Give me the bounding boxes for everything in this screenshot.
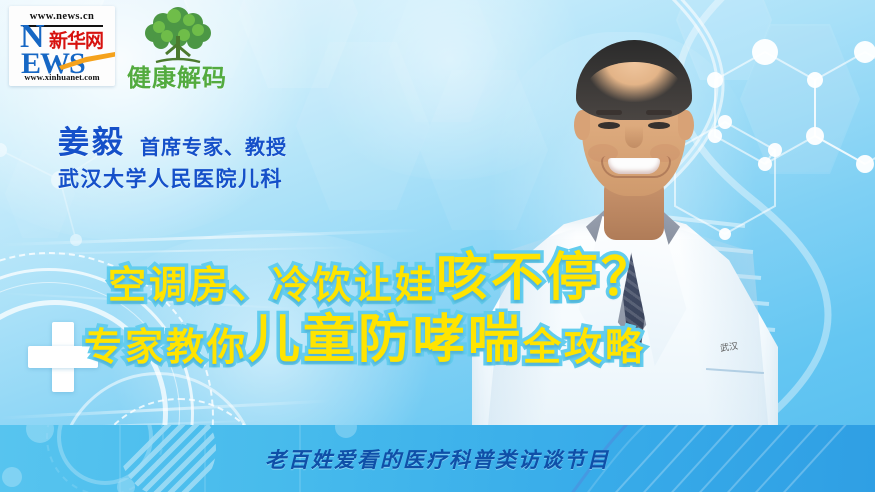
nose <box>625 126 643 148</box>
headline-block: 空调房、冷饮让娃 咳不停？ 专家教你 儿童防哮喘 全攻略 <box>108 252 808 366</box>
eyebrow-right <box>646 110 672 115</box>
program-poster: www.news.cn N EWS 新华网 www.xinhuanet.com <box>0 0 875 492</box>
headline-line1-segment-1: 空调房、冷饮让娃 <box>108 266 436 304</box>
eye-left <box>598 122 620 129</box>
headline-line-1: 空调房、冷饮让娃 咳不停？ <box>108 252 808 304</box>
doctor-portrait: 武汉 <box>470 18 780 448</box>
expert-name: 姜毅 <box>58 128 126 159</box>
light-streak <box>0 399 330 419</box>
xinhua-bottom-url: www.xinhuanet.com <box>9 72 115 82</box>
expert-info-block: 姜毅 首席专家、教授 武汉大学人民医院儿科 <box>58 128 287 190</box>
expert-name-row: 姜毅 首席专家、教授 <box>58 128 287 159</box>
hexagon-pattern-icon <box>238 0 358 88</box>
headline-line2-segment-1: 专家教你 <box>84 328 248 366</box>
footer-band: 老百姓爱看的医疗科普类访谈节目 <box>0 425 875 492</box>
headline-line1-segment-2: 咳不停？ <box>436 252 656 304</box>
xinhua-chinese-name: 新华网 <box>49 26 103 53</box>
expert-organization: 武汉大学人民医院儿科 <box>58 169 287 190</box>
light-streak <box>0 229 420 247</box>
green-tree-icon <box>132 6 224 64</box>
eye-right <box>648 122 670 129</box>
hexagon-pattern-icon <box>296 42 430 210</box>
ear-right <box>678 110 694 140</box>
headline-line2-segment-2: 儿童防哮喘 <box>248 314 523 366</box>
ear-left <box>574 110 590 140</box>
headline-line2-segment-3: 全攻略 <box>523 328 646 366</box>
headline-line-2: 专家教你 儿童防哮喘 全攻略 <box>84 314 808 366</box>
xinhua-news-logo[interactable]: www.news.cn N EWS 新华网 www.xinhuanet.com <box>9 6 115 86</box>
program-logo[interactable]: 健康解码 <box>118 8 236 90</box>
footer-tagline: 老百姓爱看的医疗科普类访谈节目 <box>0 425 875 492</box>
program-title: 健康解码 <box>118 58 236 93</box>
eyebrow-left <box>596 110 622 115</box>
expert-title: 首席专家、教授 <box>140 137 287 159</box>
smile <box>608 158 660 174</box>
